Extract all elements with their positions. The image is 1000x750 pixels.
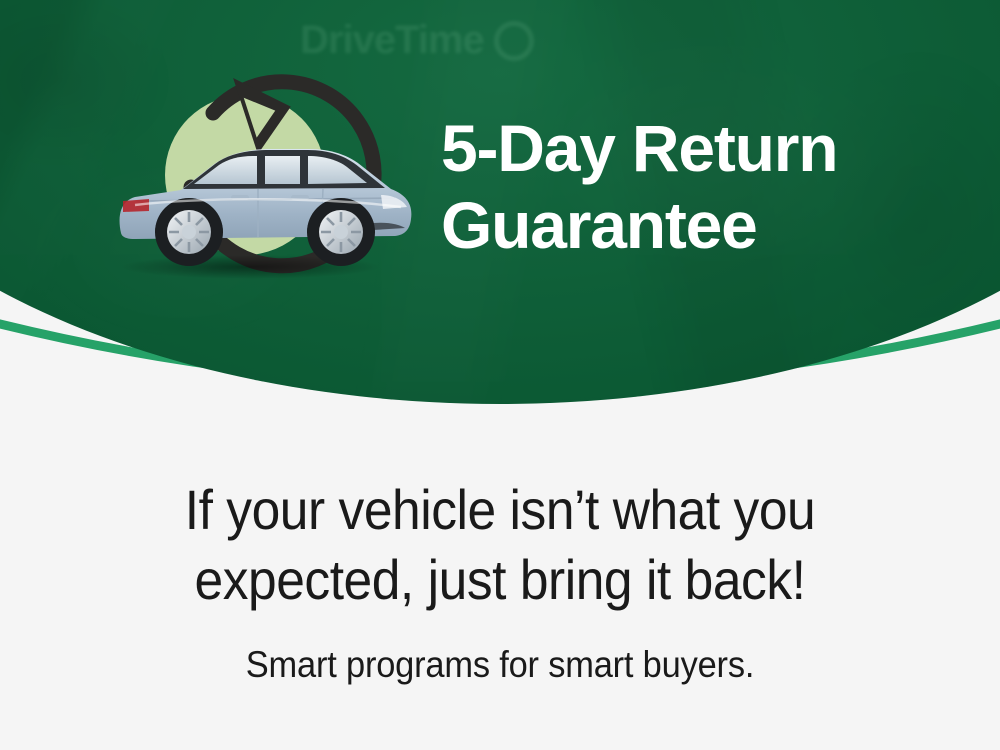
illustration-group (95, 55, 435, 310)
tagline: Smart programs for smart buyers. (35, 643, 965, 687)
banner-root: DriveTime (0, 0, 1000, 750)
headline: 5-Day Return Guarantee (441, 110, 961, 264)
headline-line-1: 5-Day Return (441, 110, 961, 187)
message-section: If your vehicle isn’t what you expected,… (0, 405, 1000, 750)
sedan-car-icon (95, 55, 435, 310)
subheadline-line-1: If your vehicle isn’t what you (40, 475, 960, 545)
hero-clip: DriveTime (0, 0, 1000, 405)
subheadline-line-2: expected, just bring it back! (40, 545, 960, 615)
subheadline: If your vehicle isn’t what you expected,… (40, 475, 960, 615)
hero-panel: DriveTime (0, 0, 1000, 405)
headline-line-2: Guarantee (441, 187, 961, 264)
